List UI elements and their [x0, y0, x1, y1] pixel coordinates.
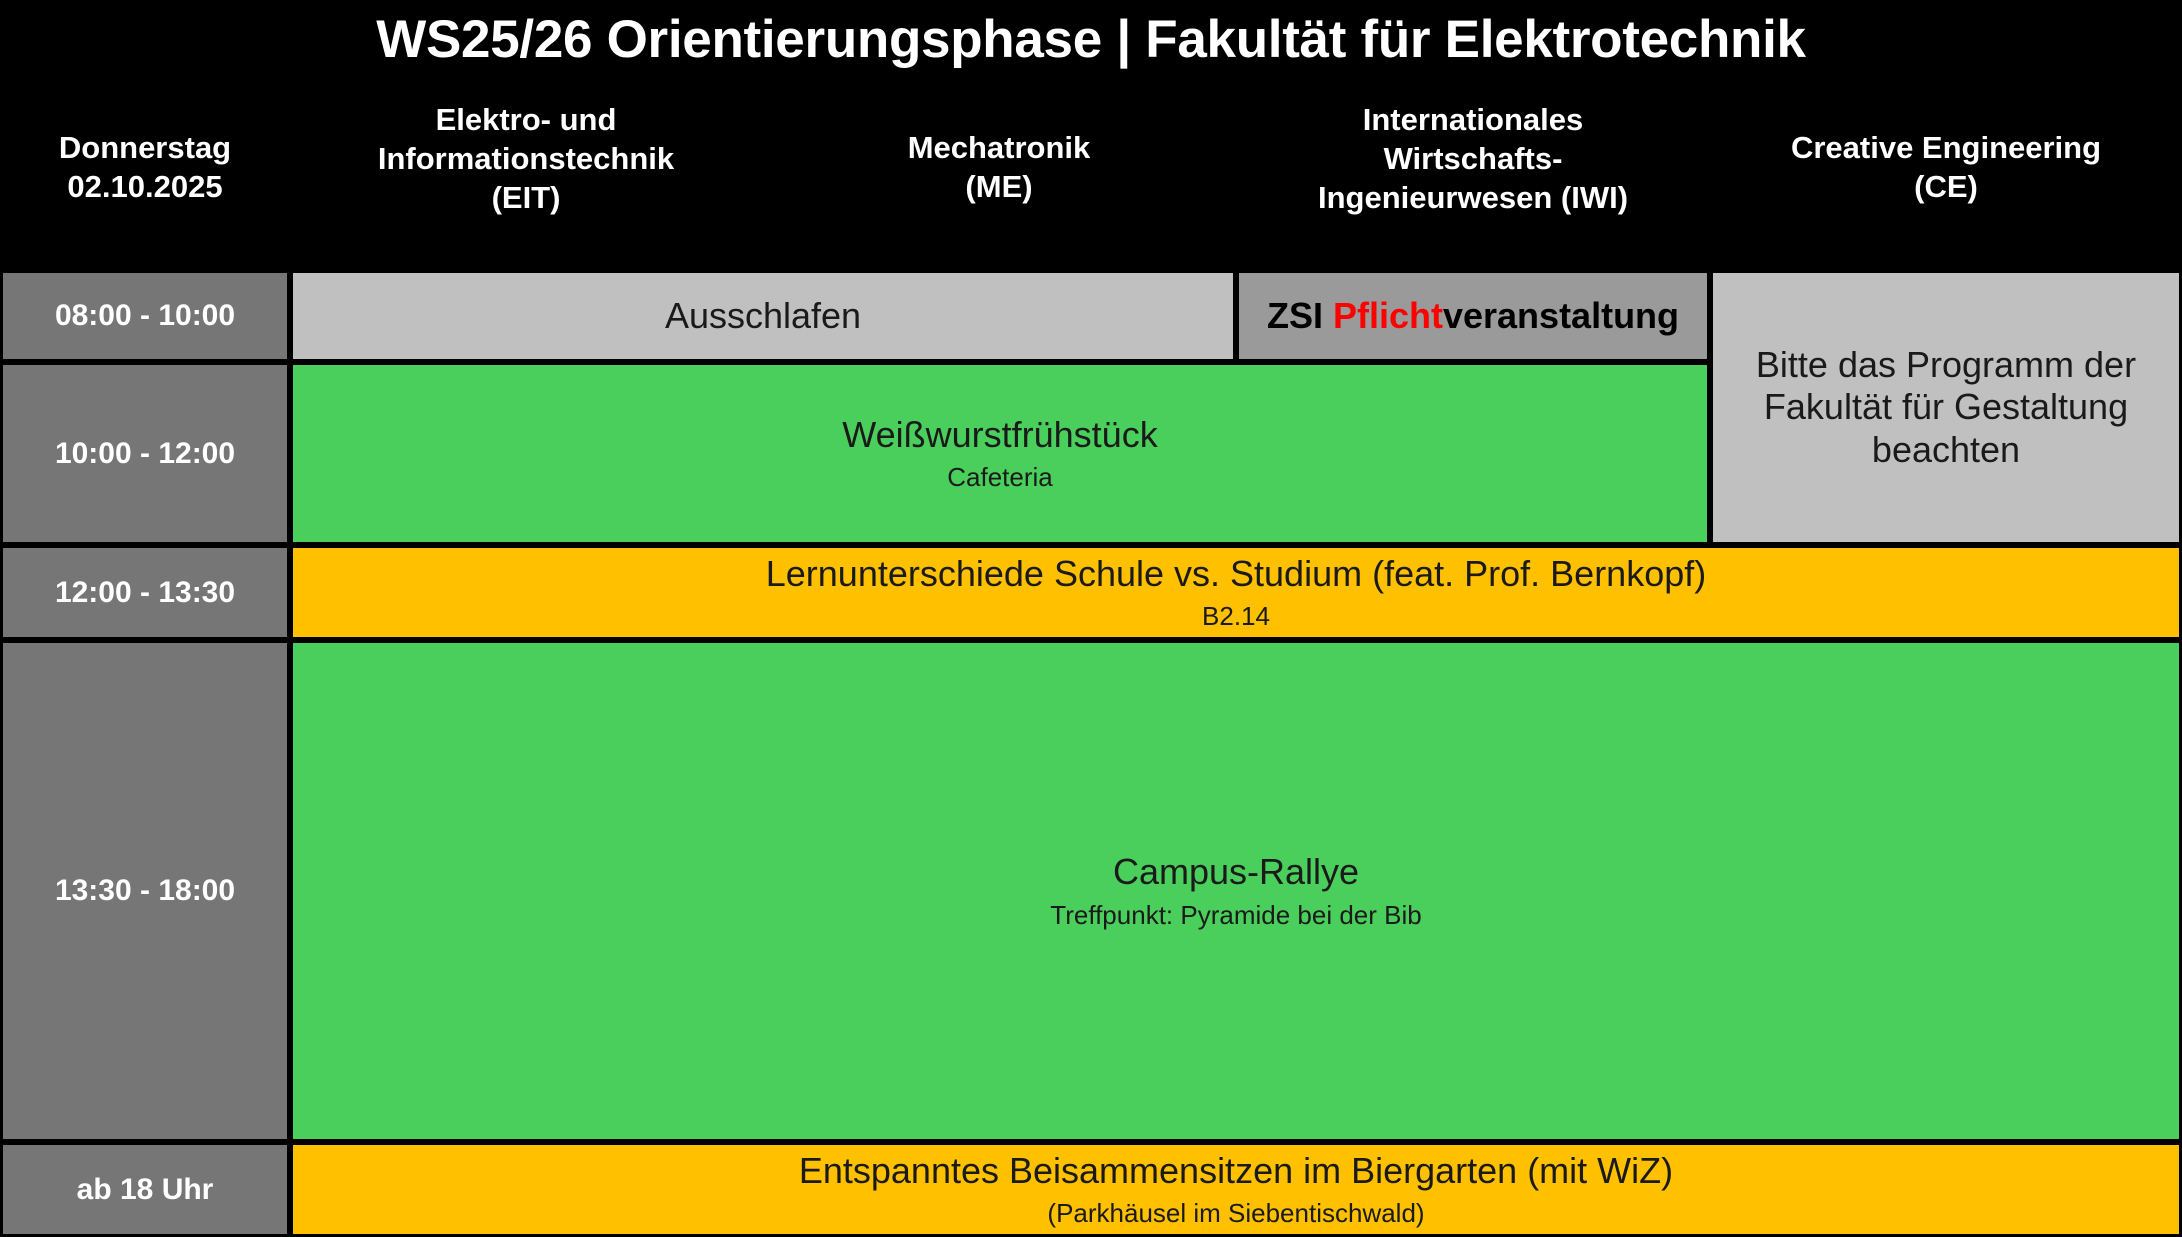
ce-line-2: (CE): [1710, 167, 2182, 206]
column-header-me: Mechatronik (ME): [762, 128, 1236, 206]
event-location: Treffpunkt: Pyramide bei der Bib: [1050, 900, 1421, 931]
time-label: ab 18 Uhr: [77, 1172, 214, 1207]
event-title: Ausschlafen: [665, 295, 861, 337]
event-weisswurstfruehstueck[interactable]: Weißwurstfrühstück Cafeteria: [290, 362, 1710, 545]
time-label: 12:00 - 13:30: [55, 575, 235, 610]
event-ce-programm-hinweis[interactable]: Bitte das Programm der Fakultät für Gest…: [1710, 270, 2182, 545]
event-lernunterschiede[interactable]: Lernunterschiede Schule vs. Studium (fea…: [290, 545, 2182, 640]
iwi-line-3: Ingenieurwesen (IWI): [1236, 178, 1710, 217]
iwi-line-2: Wirtschafts-: [1236, 139, 1710, 178]
zsi-suffix: veranstaltung: [1443, 295, 1679, 336]
time-label: 08:00 - 10:00: [55, 298, 235, 333]
time-label: 13:30 - 18:00: [55, 873, 235, 908]
event-location: B2.14: [1202, 601, 1270, 632]
time-slot-1330-1800: 13:30 - 18:00: [0, 640, 290, 1142]
page-title: WS25/26 Orientierungsphase | Fakultät fü…: [0, 8, 2182, 72]
event-ausschlafen[interactable]: Ausschlafen: [290, 270, 1236, 362]
eit-line-2: Informationstechnik: [290, 139, 762, 178]
event-title: Lernunterschiede Schule vs. Studium (fea…: [766, 553, 1706, 595]
event-title: Campus-Rallye: [1113, 851, 1359, 893]
event-zsi-pflichtveranstaltung[interactable]: ZSI Pflichtveranstaltung: [1236, 270, 1710, 362]
time-slot-ab-18-uhr: ab 18 Uhr: [0, 1142, 290, 1237]
event-location: (Parkhäusel im Siebentischwald): [1047, 1198, 1424, 1229]
day-line-2: 02.10.2025: [0, 167, 290, 206]
column-header-eit: Elektro- und Informationstechnik (EIT): [290, 100, 762, 217]
time-slot-1200-1330: 12:00 - 13:30: [0, 545, 290, 640]
eit-line-3: (EIT): [290, 178, 762, 217]
me-line-2: (ME): [762, 167, 1236, 206]
time-slot-1000-1200: 10:00 - 12:00: [0, 362, 290, 545]
column-header-ce: Creative Engineering (CE): [1710, 128, 2182, 206]
ce-note-line-1: Bitte das Programm der: [1756, 344, 2136, 386]
day-line-1: Donnerstag: [0, 128, 290, 167]
column-header-iwi: Internationales Wirtschafts- Ingenieurwe…: [1236, 100, 1710, 217]
event-title: Entspanntes Beisammensitzen im Biergarte…: [799, 1150, 1673, 1192]
zsi-pflicht-emphasis: Pflicht: [1333, 295, 1443, 336]
column-header-day: Donnerstag 02.10.2025: [0, 128, 290, 206]
event-location: Cafeteria: [947, 462, 1053, 493]
zsi-prefix: ZSI: [1267, 295, 1333, 336]
ce-note-line-2: Fakultät für Gestaltung: [1764, 386, 2128, 428]
time-slot-0800-1000: 08:00 - 10:00: [0, 270, 290, 362]
eit-line-1: Elektro- und: [290, 100, 762, 139]
iwi-line-1: Internationales: [1236, 100, 1710, 139]
schedule-page: WS25/26 Orientierungsphase | Fakultät fü…: [0, 0, 2182, 1237]
event-campus-rallye[interactable]: Campus-Rallye Treffpunkt: Pyramide bei d…: [290, 640, 2182, 1142]
ce-note-line-3: beachten: [1872, 429, 2020, 471]
event-biergarten[interactable]: Entspanntes Beisammensitzen im Biergarte…: [290, 1142, 2182, 1237]
me-line-1: Mechatronik: [762, 128, 1236, 167]
time-label: 10:00 - 12:00: [55, 436, 235, 471]
event-title: ZSI Pflichtveranstaltung: [1267, 295, 1679, 337]
ce-line-1: Creative Engineering: [1710, 128, 2182, 167]
event-title: Weißwurstfrühstück: [842, 414, 1157, 456]
